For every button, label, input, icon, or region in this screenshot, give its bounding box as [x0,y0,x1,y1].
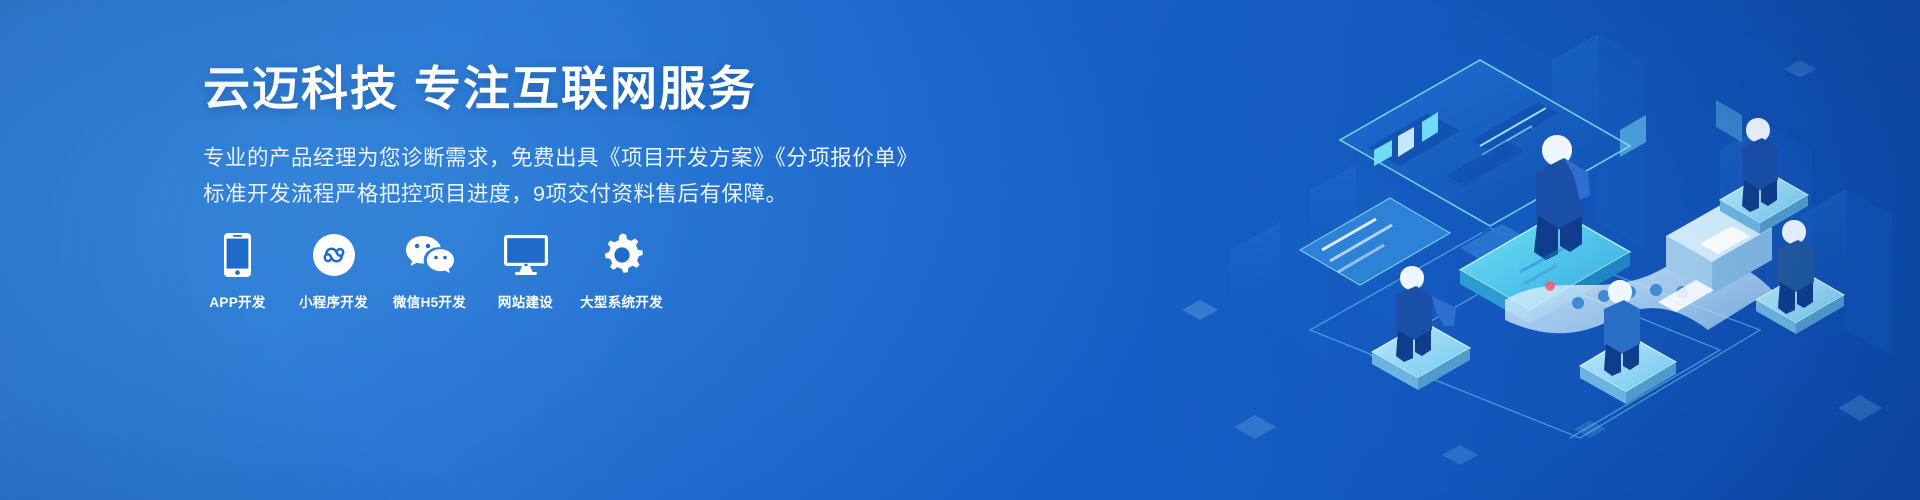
banner-subtitle: 专业的产品经理为您诊断需求，免费出具《项目开发方案》《分项报价单》 标准开发流程… [203,140,923,212]
service-item-mini-program[interactable]: 小程序开发 [302,232,365,311]
hero-banner: 云迈科技 专注互联网服务 专业的产品经理为您诊断需求，免费出具《项目开发方案》《… [0,0,1920,500]
service-label: 小程序开发 [299,291,368,311]
isometric-illustration [1160,0,1920,500]
service-label: 网站建设 [498,291,553,311]
service-item-app[interactable]: APP开发 [206,232,269,311]
service-item-website[interactable]: 网站建设 [494,232,557,311]
wechat-icon [405,232,455,278]
mini-program-icon [313,232,355,278]
banner-content: 云迈科技 专注互联网服务 专业的产品经理为您诊断需求，免费出具《项目开发方案》《… [203,60,923,212]
mobile-phone-icon [224,232,251,278]
service-list: APP开发 小程序开发 [206,232,653,311]
service-item-large-system[interactable]: 大型系统开发 [590,232,653,311]
subtitle-line-1: 专业的产品经理为您诊断需求，免费出具《项目开发方案》《分项报价单》 [203,140,923,176]
gear-icon [600,232,644,278]
service-label: 大型系统开发 [580,291,663,311]
service-item-wechat-h5[interactable]: 微信H5开发 [398,232,461,311]
service-label: 微信H5开发 [393,291,466,311]
monitor-icon [504,232,548,278]
service-label: APP开发 [209,291,265,311]
banner-title: 云迈科技 专注互联网服务 [203,60,923,119]
subtitle-line-2: 标准开发流程严格把控项目进度，9项交付资料售后有保障。 [203,176,923,212]
